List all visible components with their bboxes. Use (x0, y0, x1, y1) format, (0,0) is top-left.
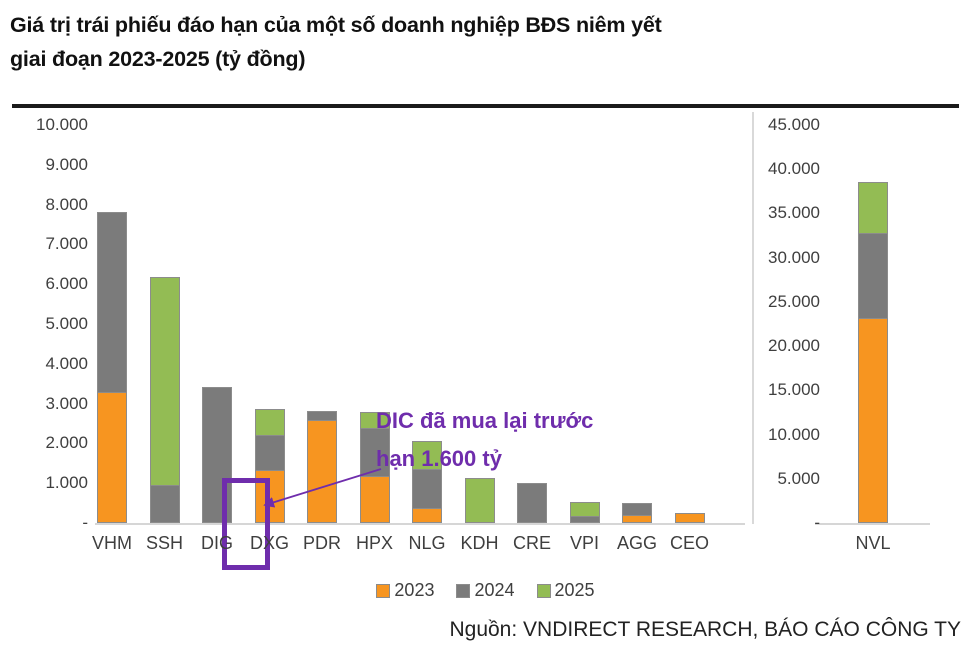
bar-CRE (517, 483, 547, 523)
legend-label-2024: 2024 (474, 580, 514, 601)
page-title: Giá trị trái phiếu đáo hạn của một số do… (10, 8, 910, 76)
left-axis-tick-1: 9.000 (0, 155, 88, 175)
right-axis-tick-1: 40.000 (660, 159, 820, 179)
right-axis-tick-3: 30.000 (660, 248, 820, 268)
legend-swatch-2024 (456, 584, 470, 598)
bar-CRE-segment-2024 (517, 483, 547, 523)
left-axis-tick-10: - (0, 513, 88, 533)
bar-VPI (570, 502, 600, 523)
bar-CEO-segment-2023 (675, 513, 705, 523)
bar-NVL-segment-2025 (858, 182, 888, 233)
chart-legend: 202320242025 (0, 580, 971, 601)
bar-NVL (858, 182, 888, 523)
bar-AGG-segment-2024 (622, 503, 652, 515)
legend-item-2025[interactable]: 2025 (537, 580, 595, 601)
legend-item-2023[interactable]: 2023 (376, 580, 434, 601)
legend-label-2023: 2023 (394, 580, 434, 601)
bar-VPI-segment-2025 (570, 502, 600, 516)
category-label-AGG: AGG (617, 533, 657, 554)
bar-PDR-segment-2024 (307, 411, 337, 420)
category-label-PDR: PDR (303, 533, 341, 554)
category-label-DXG: DXG (250, 533, 289, 554)
bar-AGG (622, 503, 652, 523)
category-label-NLG: NLG (408, 533, 445, 554)
right-axis-tick-0: 45.000 (660, 115, 820, 135)
bar-AGG-segment-2023 (622, 515, 652, 523)
bar-CEO (675, 513, 705, 523)
category-label-NVL: NVL (855, 533, 890, 554)
left-axis-tick-4: 6.000 (0, 274, 88, 294)
left-axis-tick-9: 1.000 (0, 473, 88, 493)
left-axis-tick-0: 10.000 (0, 115, 88, 135)
right-axis-tick-5: 20.000 (660, 336, 820, 356)
category-label-DIG: DIG (201, 533, 233, 554)
category-label-VHM: VHM (92, 533, 132, 554)
category-label-KDH: KDH (460, 533, 498, 554)
annotation-arrow-icon (255, 465, 385, 510)
bar-NVL-segment-2024 (858, 233, 888, 318)
annotation-text: DIC đã mua lại trước hạn 1.600 tỷ (376, 402, 686, 478)
title-divider (12, 104, 959, 108)
bar-VPI-segment-2024 (570, 516, 600, 523)
page-title-line-1: Giá trị trái phiếu đáo hạn của một số do… (10, 8, 910, 42)
main-panel-baseline (95, 523, 745, 525)
category-label-HPX: HPX (356, 533, 393, 554)
bar-SSH-segment-2024 (150, 485, 180, 523)
bar-DXG-segment-2025 (255, 409, 285, 435)
bar-KDH (465, 478, 495, 523)
annotation-line-1: DIC đã mua lại trước (376, 402, 686, 440)
page-title-line-2: giai đoạn 2023-2025 (tỷ đồng) (10, 42, 910, 76)
legend-swatch-2023 (376, 584, 390, 598)
bar-KDH-segment-2025 (465, 478, 495, 523)
left-axis-tick-5: 5.000 (0, 314, 88, 334)
left-axis-tick-6: 4.000 (0, 354, 88, 374)
left-axis-tick-2: 8.000 (0, 195, 88, 215)
legend-item-2024[interactable]: 2024 (456, 580, 514, 601)
right-axis-tick-2: 35.000 (660, 203, 820, 223)
bar-SSH (150, 277, 180, 523)
right-axis-tick-4: 25.000 (660, 292, 820, 312)
right-axis-tick-6: 15.000 (660, 380, 820, 400)
left-axis-tick-7: 3.000 (0, 394, 88, 414)
bar-VHM (97, 212, 127, 523)
legend-swatch-2025 (537, 584, 551, 598)
bar-VHM-segment-2024 (97, 212, 127, 392)
category-label-VPI: VPI (570, 533, 599, 554)
bar-NLG-segment-2023 (412, 508, 442, 523)
chart-plot-area: 10.0009.0008.0007.0006.0005.0004.0003.00… (0, 110, 971, 530)
left-axis-tick-3: 7.000 (0, 234, 88, 254)
source-note: Nguồn: VNDIRECT RESEARCH, BÁO CÁO CÔNG T… (0, 618, 961, 642)
nvl-panel-baseline (815, 523, 930, 525)
left-axis-tick-8: 2.000 (0, 433, 88, 453)
legend-label-2025: 2025 (555, 580, 595, 601)
bar-VHM-segment-2023 (97, 392, 127, 523)
category-label-CEO: CEO (670, 533, 709, 554)
annotation-line-2: hạn 1.600 tỷ (376, 440, 686, 478)
category-label-CRE: CRE (513, 533, 551, 554)
bar-SSH-segment-2025 (150, 277, 180, 484)
bar-NVL-segment-2023 (858, 318, 888, 523)
category-label-SSH: SSH (146, 533, 183, 554)
